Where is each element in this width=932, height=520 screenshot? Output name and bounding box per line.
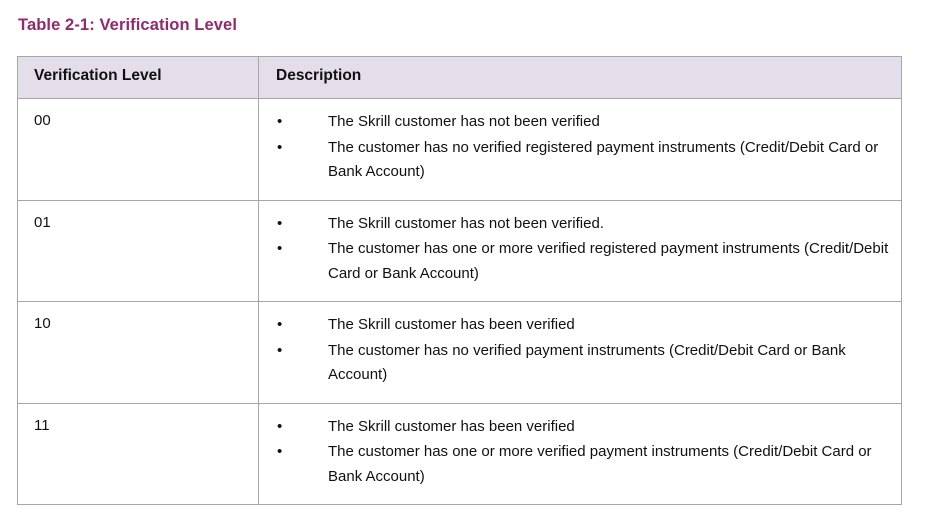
table-row: 10 The Skrill customer has been verified… [18,302,902,404]
description-bullet-list: The Skrill customer has been verified Th… [276,313,889,388]
column-header-description: Description [259,57,902,99]
list-item: The customer has no verified payment ins… [276,339,889,388]
document-page: Table 2-1: Verification Level Verificati… [0,0,932,520]
cell-description: The Skrill customer has not been verifie… [259,99,902,201]
table-row: 11 The Skrill customer has been verified… [18,403,902,505]
table-body: 00 The Skrill customer has not been veri… [18,99,902,505]
cell-verification-level: 01 [18,200,259,302]
cell-description: The Skrill customer has been verified Th… [259,403,902,505]
description-bullet-list: The Skrill customer has not been verifie… [276,212,889,287]
list-item: The Skrill customer has not been verifie… [276,110,889,135]
list-item: The customer has one or more verified pa… [276,440,889,489]
table-row: 01 The Skrill customer has not been veri… [18,200,902,302]
list-item: The Skrill customer has been verified [276,313,889,338]
cell-description: The Skrill customer has not been verifie… [259,200,902,302]
list-item: The Skrill customer has been verified [276,415,889,440]
table-caption: Table 2-1: Verification Level [18,16,237,35]
description-bullet-list: The Skrill customer has not been verifie… [276,110,889,185]
cell-description: The Skrill customer has been verified Th… [259,302,902,404]
list-item: The Skrill customer has not been verifie… [276,212,889,237]
verification-level-table: Verification Level Description 00 The Sk… [17,56,902,505]
table-row: 00 The Skrill customer has not been veri… [18,99,902,201]
column-header-verification-level: Verification Level [18,57,259,99]
description-bullet-list: The Skrill customer has been verified Th… [276,415,889,490]
list-item: The customer has one or more verified re… [276,237,889,286]
table-header: Verification Level Description [18,57,902,99]
list-item: The customer has no verified registered … [276,136,889,185]
cell-verification-level: 00 [18,99,259,201]
table-header-row: Verification Level Description [18,57,902,99]
cell-verification-level: 11 [18,403,259,505]
cell-verification-level: 10 [18,302,259,404]
